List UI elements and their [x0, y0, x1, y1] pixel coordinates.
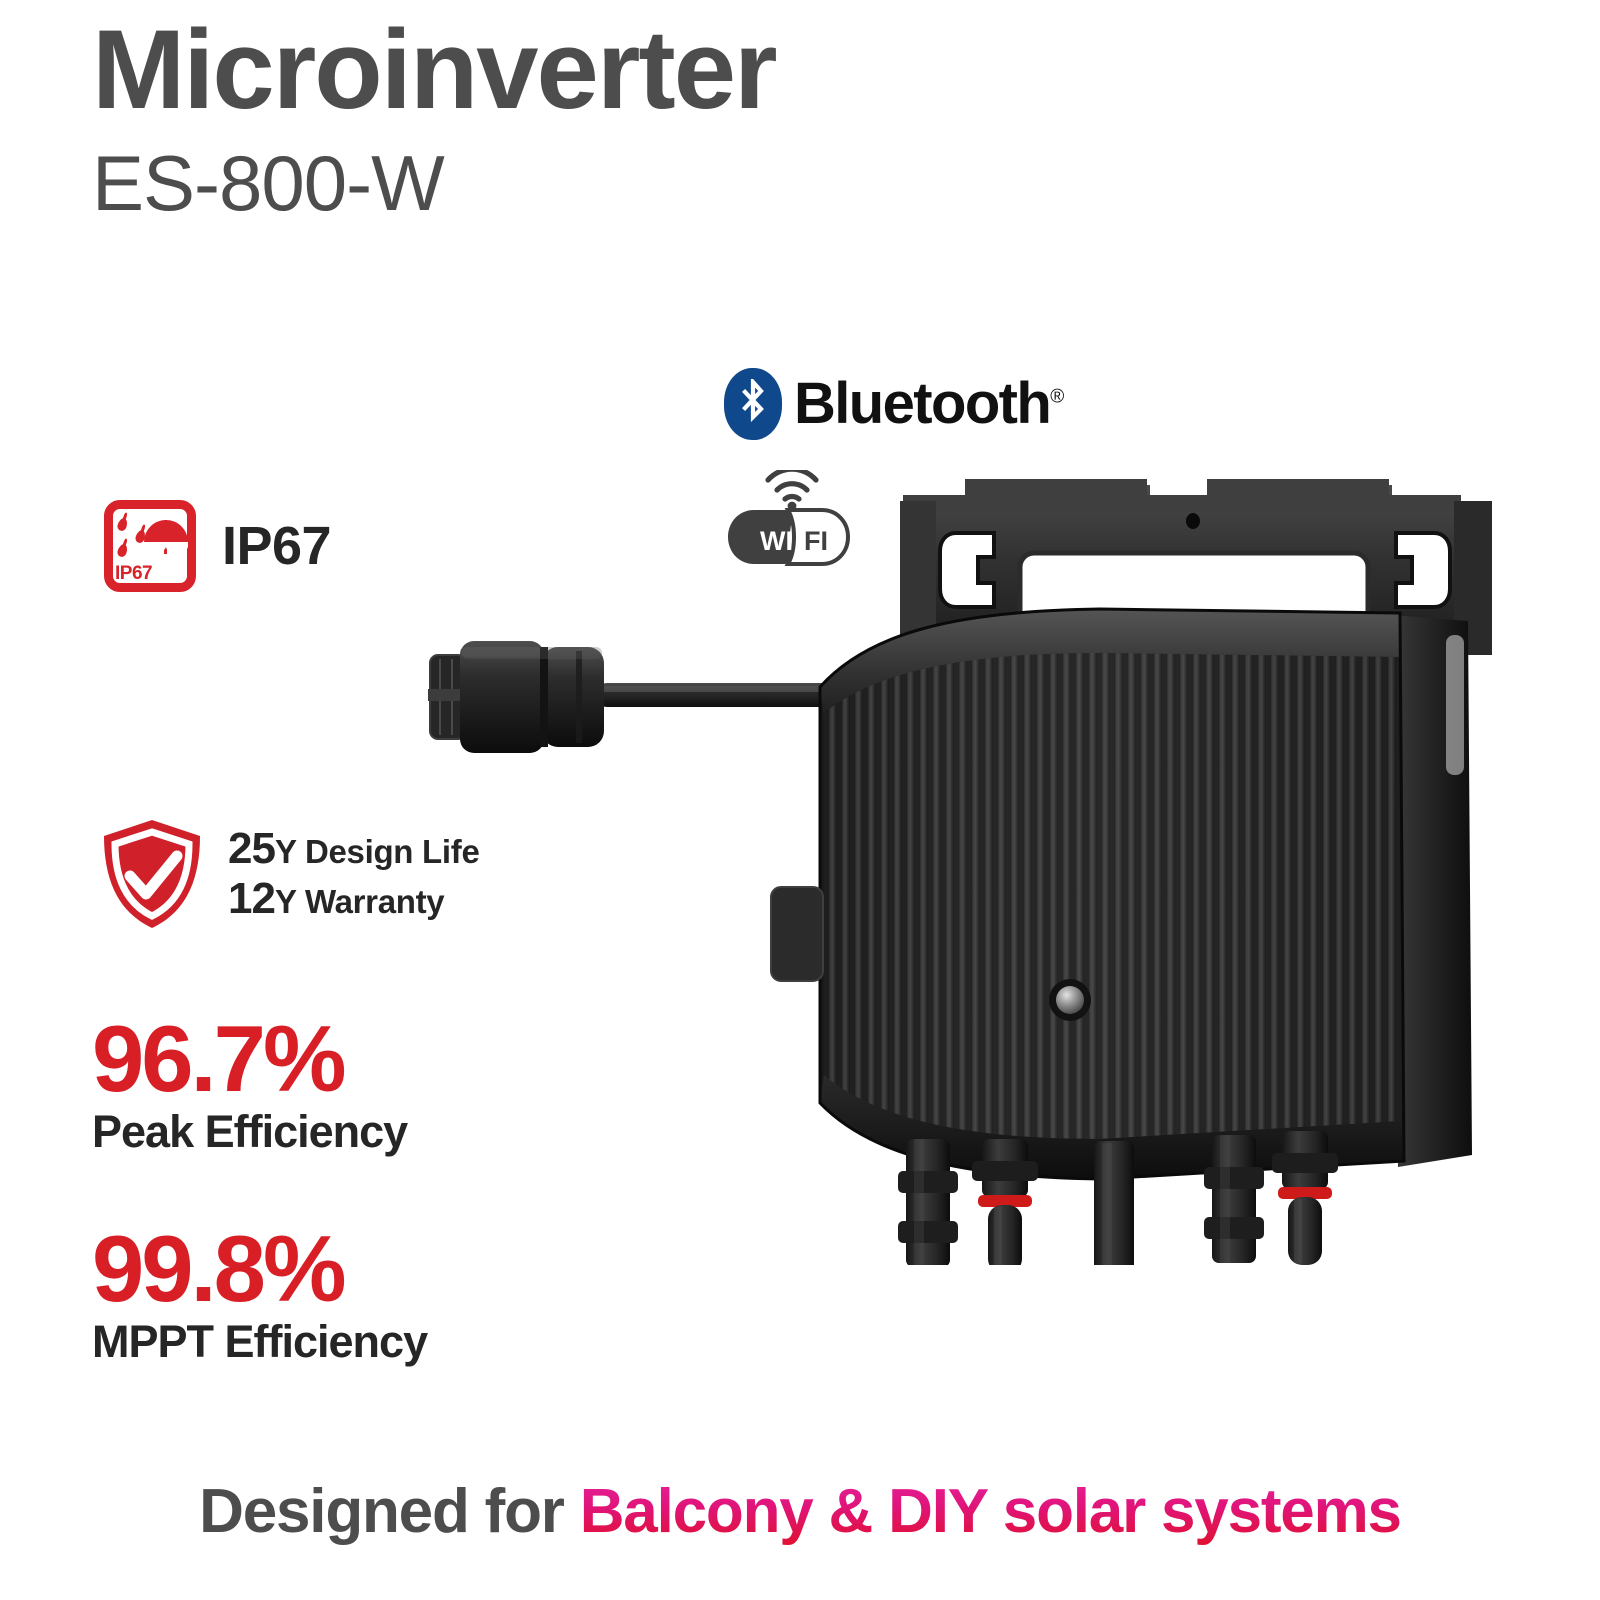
design-life-unit: Y	[275, 833, 296, 870]
heatsink-body	[820, 609, 1420, 1179]
bluetooth-icon	[724, 368, 782, 440]
product-title: Microinverter	[92, 14, 776, 126]
ac-connector	[428, 641, 604, 753]
side-tab	[771, 887, 823, 981]
tagline: Designed for Balcony & DIY solar systems	[0, 1476, 1600, 1547]
bluetooth-badge: Bluetooth®	[724, 368, 1063, 440]
wifi-signal-icon	[764, 470, 820, 510]
stat-mppt-efficiency: 99.8% MPPT Efficiency	[92, 1222, 427, 1365]
tagline-prefix: Designed for	[199, 1477, 580, 1546]
bluetooth-word: Bluetooth	[794, 371, 1050, 436]
tagline-highlight: Balcony & DIY solar systems	[580, 1477, 1401, 1546]
wifi-right-text: FI	[804, 526, 828, 556]
microinverter-product-image	[400, 455, 1520, 1265]
peak-efficiency-value: 96.7%	[92, 1012, 407, 1106]
bluetooth-wordmark: Bluetooth®	[794, 375, 1063, 433]
design-life-years: 25	[228, 824, 275, 873]
mppt-efficiency-value: 99.8%	[92, 1222, 427, 1316]
bluetooth-registered-mark: ®	[1050, 387, 1062, 408]
side-accent	[1446, 635, 1464, 775]
warranty-years: 12	[228, 874, 275, 923]
product-model: ES-800-W	[92, 144, 776, 222]
stat-peak-efficiency: 96.7% Peak Efficiency	[92, 1012, 407, 1155]
peak-efficiency-caption: Peak Efficiency	[92, 1108, 407, 1155]
ip67-umbrella-icon: IP67	[104, 500, 196, 592]
ip67-label: IP67	[222, 515, 331, 577]
product-spec-card: Microinverter ES-800-W IP67 IP67	[0, 0, 1600, 1600]
warranty-unit: Y	[275, 883, 296, 920]
wifi-badge: WI FI	[726, 470, 856, 566]
vent-screw	[1049, 979, 1091, 1021]
wifi-wordmark: WI FI	[726, 508, 850, 566]
page-title: Microinverter ES-800-W	[92, 14, 776, 222]
wifi-left-text: WI	[760, 526, 793, 556]
feature-ip67: IP67 IP67	[104, 500, 331, 592]
ip67-badge-text: IP67	[115, 563, 152, 585]
shield-check-icon	[100, 818, 204, 930]
mppt-efficiency-caption: MPPT Efficiency	[92, 1318, 427, 1365]
